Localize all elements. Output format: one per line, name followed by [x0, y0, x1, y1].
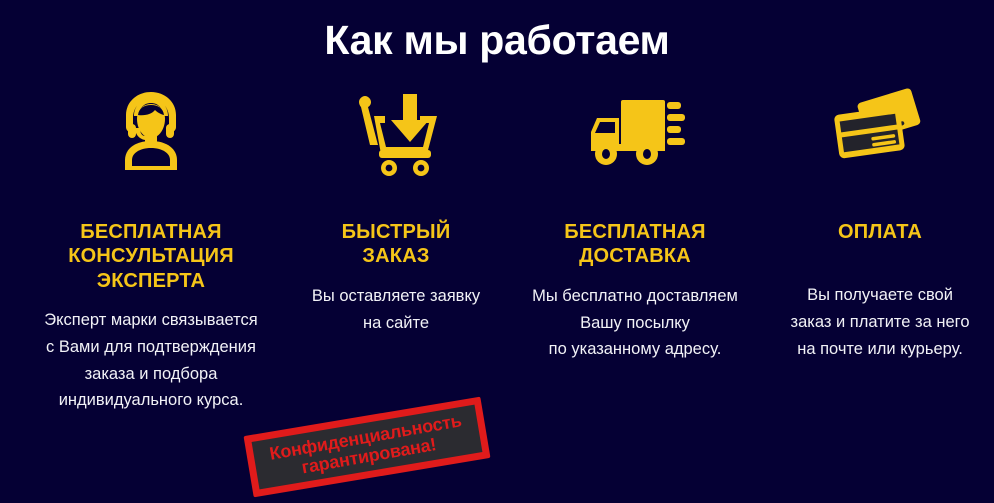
step-item-delivery: БЕСПЛАТНАЯ ДОСТАВКА Мы бесплатно доставл… — [506, 88, 764, 363]
credit-cards-icon — [831, 88, 929, 180]
steps-row: БЕСПЛАТНАЯ КОНСУЛЬТАЦИЯ ЭКСПЕРТА Эксперт… — [0, 88, 994, 414]
step-heading: БЕСПЛАТНАЯ КОНСУЛЬТАЦИЯ ЭКСПЕРТА — [68, 220, 234, 293]
step-description: Мы бесплатно доставляем Вашу посылку по … — [532, 283, 738, 363]
step-heading: ОПЛАТА — [838, 220, 922, 244]
shopping-cart-download-icon — [353, 88, 439, 180]
confidentiality-stamp-text: Конфиденциальность гарантирована! — [268, 411, 466, 483]
step-item-fast-order: БЫСТРЫЙ ЗАКАЗ Вы оставляете заявку на са… — [296, 88, 496, 336]
page-title: Как мы работаем — [0, 18, 994, 63]
step-description: Вы оставляете заявку на сайте — [312, 283, 480, 336]
step-item-payment: ОПЛАТА Вы получаете свой заказ и платите… — [766, 88, 994, 363]
step-description: Эксперт марки связывается с Вами для под… — [44, 307, 257, 414]
how-we-work-section: Как мы работаем — [0, 0, 994, 503]
step-heading: БЕСПЛАТНАЯ ДОСТАВКА — [564, 220, 706, 269]
step-heading: БЫСТРЫЙ ЗАКАЗ — [342, 220, 451, 269]
headset-operator-icon — [111, 88, 191, 180]
step-description: Вы получаете свой заказ и платите за нег… — [791, 282, 970, 362]
step-item-consultation: БЕСПЛАТНАЯ КОНСУЛЬТАЦИЯ ЭКСПЕРТА Эксперт… — [6, 88, 296, 414]
delivery-truck-icon — [583, 88, 687, 180]
